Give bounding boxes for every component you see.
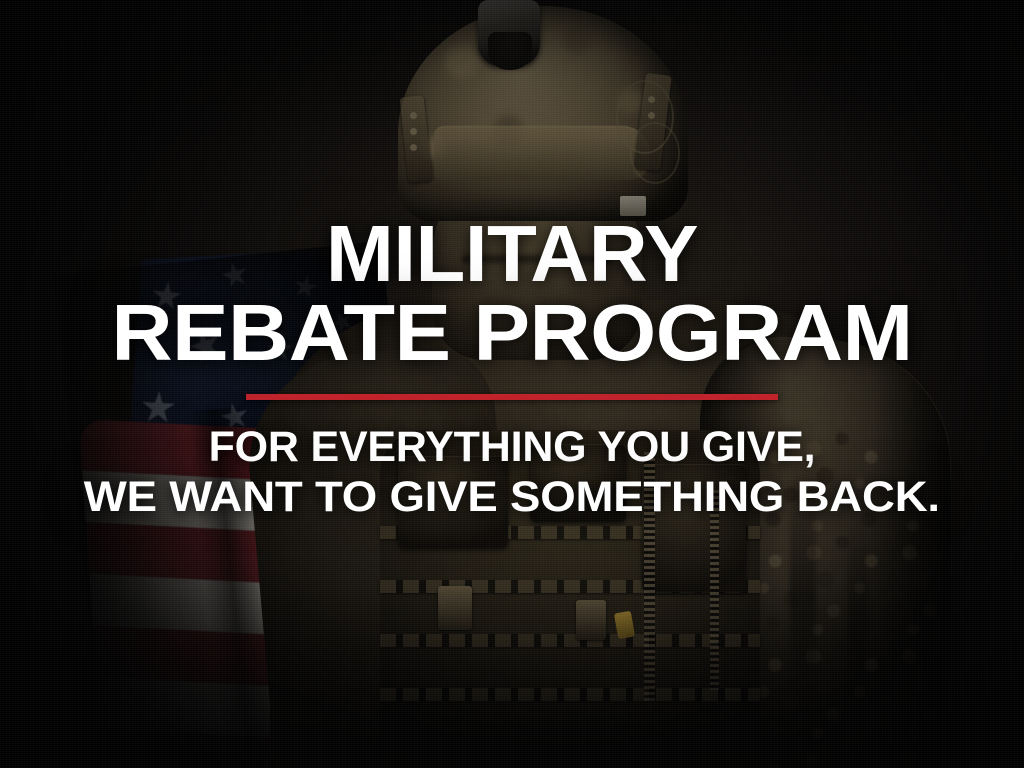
subheadline-line-1: FOR EVERYTHING YOU GIVE,	[108, 422, 916, 473]
red-divider-rule	[246, 394, 778, 400]
headline-line-2: REBATE PROGRAM	[111, 295, 912, 372]
text-overlay: MILITARY REBATE PROGRAM FOR EVERYTHING Y…	[0, 0, 1024, 768]
subheadline: FOR EVERYTHING YOU GIVE, WE WANT TO GIVE…	[108, 422, 916, 523]
headline: MILITARY REBATE PROGRAM	[134, 216, 890, 372]
military-rebate-poster: MILITARY REBATE PROGRAM FOR EVERYTHING Y…	[0, 0, 1024, 768]
subheadline-line-2: WE WANT TO GIVE SOMETHING BACK.	[84, 472, 940, 523]
headline-line-1: MILITARY	[126, 216, 897, 293]
